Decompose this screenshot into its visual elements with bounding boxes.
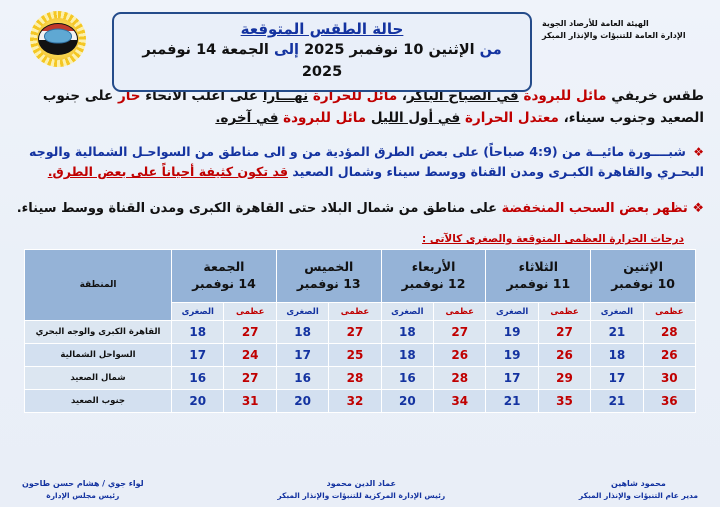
signature-right-role: مدير عام التنبؤات والإنذار المبكر	[579, 490, 698, 501]
summary-l2-s1: وجنوب سيناء،	[559, 110, 655, 126]
max-label-2: عظمى	[434, 303, 486, 321]
logo-emblem-icon	[38, 23, 78, 55]
organization-line-2: الإدارة العامة للتنبؤات والإنذار المبكر	[542, 30, 710, 42]
cell-max-3-2: 34	[434, 390, 486, 413]
cell-min-0-2: 18	[381, 321, 433, 344]
cell-max-0-4: 27	[224, 321, 276, 344]
region-column-header: المنطقة	[25, 250, 172, 321]
page-footer: محمود شاهين مدير عام التنبؤات والإنذار ا…	[0, 478, 720, 501]
table-row: 30 17 29 17 28 16 28 16 27 16 شمال الصعي…	[25, 367, 696, 390]
cell-min-1-3: 17	[276, 344, 328, 367]
day-name-3: الخميس	[277, 259, 381, 276]
cell-min-0-1: 19	[486, 321, 538, 344]
day-name-2: الأربعاء	[382, 259, 486, 276]
day-date-2: 12 نوفمبر	[382, 276, 486, 293]
min-label-3: الصغرى	[276, 303, 328, 321]
cell-max-1-1: 26	[538, 344, 590, 367]
cell-max-2-3: 28	[329, 367, 381, 390]
cell-min-2-3: 16	[276, 367, 328, 390]
weather-forecast-page: الهيئة العامة للأرصاد الجوية الإدارة الع…	[0, 0, 720, 507]
cell-max-2-0: 30	[643, 367, 695, 390]
day-header-1: الثلاثاء 11 نوفمبر	[486, 250, 591, 303]
cell-min-0-4: 18	[172, 321, 224, 344]
forecast-body: طقس خريفي مائل للبرودة في الصباح الباكر،…	[0, 80, 720, 245]
ema-logo-icon	[28, 10, 88, 68]
signature-block-middle: عماد الدين محمود رئيس الإدارة المركزية ل…	[277, 478, 445, 501]
summary-l1-s2: مائل للبرودة	[523, 88, 606, 104]
table-row: 36 21 35 21 34 20 32 20 31 20 جنوب الصعي…	[25, 390, 696, 413]
cell-max-2-1: 29	[538, 367, 590, 390]
table-header-days: الإثنين 10 نوفمبر الثلاثاء 11 نوفمبر الأ…	[25, 250, 696, 303]
cell-max-0-2: 27	[434, 321, 486, 344]
cell-max-3-3: 32	[329, 390, 381, 413]
bullet-marker-icon: ❖	[693, 145, 704, 159]
bullet-clouds-s2: على مناطق من شمال البلاد حتى القاهرة الك…	[17, 201, 497, 216]
signature-left-role: رئيس مجلس الإدارة	[22, 490, 144, 501]
date-start: الإثنين 10 نوفمبر 2025	[304, 42, 475, 58]
cell-min-2-0: 17	[591, 367, 643, 390]
temperature-table: الإثنين 10 نوفمبر الثلاثاء 11 نوفمبر الأ…	[24, 249, 696, 413]
cell-min-1-1: 19	[486, 344, 538, 367]
cell-max-3-4: 31	[224, 390, 276, 413]
day-header-4: الجمعة 14 نوفمبر	[172, 250, 277, 303]
day-name-4: الجمعة	[172, 259, 276, 276]
bullet-clouds-s1: تظهر بعض السحب المنخفضة	[502, 201, 688, 216]
signature-block-right: محمود شاهين مدير عام التنبؤات والإنذار ا…	[579, 478, 698, 501]
cell-max-0-1: 27	[538, 321, 590, 344]
bullet-fog-s3: قد تكون كثيفة أحياناً على بعض الطرق.	[48, 164, 288, 179]
signature-left-name: لواء جوي / هشام حسن طاحون	[22, 478, 144, 490]
day-date-1: 11 نوفمبر	[486, 276, 590, 293]
bullet-fog-s1: شبــــورة مائيــة من (4:9 صباحاً)	[483, 144, 686, 159]
cell-min-3-1: 21	[486, 390, 538, 413]
cell-region-2: شمال الصعيد	[25, 367, 172, 390]
table-row: 26 18 26 19 26 18 25 17 24 17 السواحل ال…	[25, 344, 696, 367]
cell-max-3-1: 35	[538, 390, 590, 413]
cell-region-3: جنوب الصعيد	[25, 390, 172, 413]
signature-right-name: محمود شاهين	[579, 478, 698, 490]
page-header: الهيئة العامة للأرصاد الجوية الإدارة الع…	[0, 0, 720, 80]
cell-max-2-2: 28	[434, 367, 486, 390]
date-to-word: إلى	[274, 42, 299, 58]
day-name-0: الإثنين	[591, 259, 695, 276]
bullet-item-clouds: ❖ تظهر بعض السحب المنخفضة على مناطق من ش…	[16, 199, 704, 220]
cell-min-3-4: 20	[172, 390, 224, 413]
cell-min-2-2: 16	[381, 367, 433, 390]
page-title: حالة الطقس المتوقعة	[124, 19, 520, 39]
cell-min-3-0: 21	[591, 390, 643, 413]
summary-paragraph: طقس خريفي مائل للبرودة في الصباح الباكر،…	[16, 86, 704, 130]
table-caption: درجات الحرارة العظمى المتوقعة والصغرى كا…	[16, 233, 692, 245]
summary-l2-s4: مائل للبرودة	[283, 110, 366, 126]
date-from-word: من	[480, 42, 502, 58]
cell-max-1-2: 26	[434, 344, 486, 367]
cell-min-2-4: 16	[172, 367, 224, 390]
day-name-1: الثلاثاء	[486, 259, 590, 276]
eagle-icon	[44, 28, 72, 43]
cell-region-1: السواحل الشمالية	[25, 344, 172, 367]
cell-min-3-3: 20	[276, 390, 328, 413]
day-date-0: 10 نوفمبر	[591, 276, 695, 293]
signature-block-left: لواء جوي / هشام حسن طاحون رئيس مجلس الإد…	[22, 478, 144, 501]
signature-middle-role: رئيس الإدارة المركزية للتنبؤات والإنذار …	[277, 490, 445, 501]
cell-min-3-2: 20	[381, 390, 433, 413]
signature-middle-name: عماد الدين محمود	[277, 478, 445, 490]
table-row: 28 21 27 19 27 18 27 18 27 18 القاهرة ال…	[25, 321, 696, 344]
cell-max-3-0: 36	[643, 390, 695, 413]
title-box: حالة الطقس المتوقعة من الإثنين 10 نوفمبر…	[112, 12, 532, 92]
day-header-3: الخميس 13 نوفمبر	[276, 250, 381, 303]
cell-max-0-3: 27	[329, 321, 381, 344]
cell-max-2-4: 27	[224, 367, 276, 390]
day-header-2: الأربعاء 12 نوفمبر	[381, 250, 486, 303]
min-label-4: الصغرى	[172, 303, 224, 321]
cell-max-0-0: 28	[643, 321, 695, 344]
cell-min-1-0: 18	[591, 344, 643, 367]
cell-region-0: القاهرة الكبرى والوجه البحري	[25, 321, 172, 344]
cell-min-2-1: 17	[486, 367, 538, 390]
organization-line-1: الهيئة العامة للأرصاد الجوية	[542, 18, 710, 30]
min-label-1: الصغرى	[486, 303, 538, 321]
cell-max-1-4: 24	[224, 344, 276, 367]
summary-l2-s5: في آخره.	[215, 110, 278, 126]
min-label-0: الصغرى	[591, 303, 643, 321]
day-date-4: 14 نوفمبر	[172, 276, 276, 293]
day-date-3: 13 نوفمبر	[277, 276, 381, 293]
organization-block: الهيئة العامة للأرصاد الجوية الإدارة الع…	[538, 8, 710, 41]
cell-min-1-2: 18	[381, 344, 433, 367]
cell-min-0-3: 18	[276, 321, 328, 344]
max-label-0: عظمى	[643, 303, 695, 321]
logo-band-white	[39, 31, 77, 40]
cell-max-1-0: 26	[643, 344, 695, 367]
cell-min-0-0: 21	[591, 321, 643, 344]
cell-min-1-4: 17	[172, 344, 224, 367]
cell-max-1-3: 25	[329, 344, 381, 367]
title-date-range: من الإثنين 10 نوفمبر 2025 إلى الجمعة 14 …	[124, 40, 520, 84]
summary-l2-s3: في أول الليل	[371, 110, 460, 126]
max-label-4: عظمى	[224, 303, 276, 321]
summary-l1-s1: طقس خريفي	[611, 88, 704, 104]
max-label-3: عظمى	[329, 303, 381, 321]
bullet-item-fog: ❖ شبــــورة مائيــة من (4:9 صباحاً) على …	[16, 142, 704, 183]
temperature-table-container: الإثنين 10 نوفمبر الثلاثاء 11 نوفمبر الأ…	[0, 249, 720, 413]
logo-container	[10, 8, 106, 70]
table-body: 28 21 27 19 27 18 27 18 27 18 القاهرة ال…	[25, 321, 696, 413]
max-label-1: عظمى	[538, 303, 590, 321]
bullet-marker-icon-2: ❖	[692, 201, 704, 216]
day-header-0: الإثنين 10 نوفمبر	[591, 250, 696, 303]
min-label-2: الصغرى	[381, 303, 433, 321]
summary-l2-s2: معتدل الحرارة	[465, 110, 559, 126]
